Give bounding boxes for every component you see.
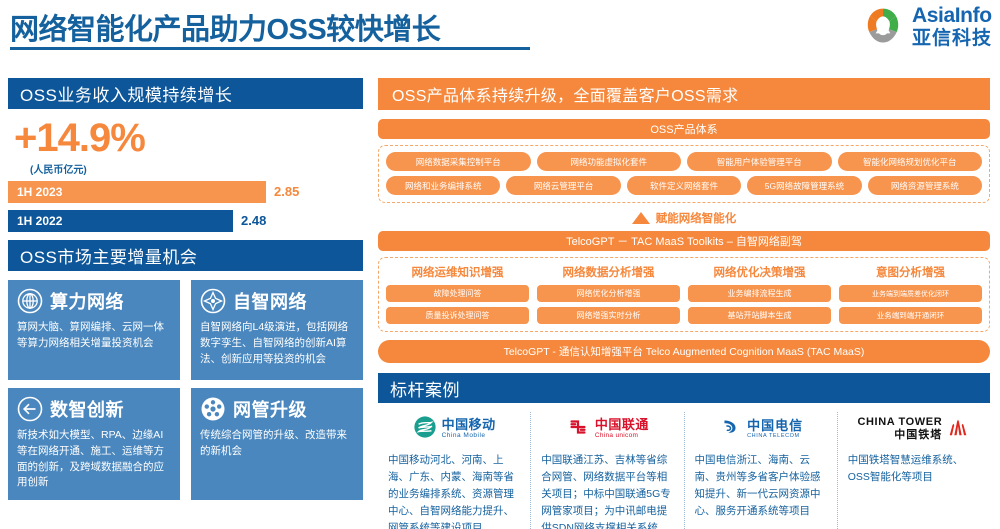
telcogpt-item[interactable]: 业务端到端开通闭环: [839, 307, 982, 324]
telcogpt-columns-container: 网络运维知识增强 故障处理问答 质量投诉处理问答 网络数据分析增强 网络优化分析…: [378, 257, 990, 332]
currency-unit-label: (人民币亿元): [30, 161, 363, 176]
bar-value-2023: 2.85: [274, 184, 299, 199]
product-pill[interactable]: 网络和业务编排系统: [386, 176, 500, 195]
case-logo: 中国电信 CHINA TELECOM: [695, 412, 827, 446]
case-logo-en: CHINA TELECOM: [747, 434, 803, 440]
opportunity-card-autonomous-network[interactable]: 自智网络 自智网络向L4级演进，包括网络数字孪生、自智网络的创新AI算法、创新应…: [191, 280, 363, 380]
telcogpt-column-title: 网络数据分析增强: [537, 264, 680, 280]
case-logo-text: 中国电信 CHINA TELECOM: [747, 419, 803, 440]
header: 网络智能化产品助力OSS较快增长 AsiaInfo 亚信科技: [0, 0, 1000, 62]
brand-logo: AsiaInfo 亚信科技: [861, 4, 992, 48]
opportunity-card-title: 数智创新: [50, 396, 124, 422]
product-group-title: OSS产品体系: [378, 119, 990, 139]
card-title-row: 自智网络: [200, 288, 354, 314]
telcogpt-column-title: 网络优化决策增强: [688, 264, 831, 280]
telcogpt-column-data-analysis: 网络数据分析增强 网络优化分析增强 网络增强实时分析: [537, 264, 680, 324]
china-tower-logo-icon: [946, 415, 970, 444]
title-underline: [10, 47, 530, 50]
card-title-row: 网管升级: [200, 396, 354, 422]
case-section-heading: 标杆案例: [378, 373, 990, 403]
enable-network-intelligence-label: 赋能网络智能化: [378, 210, 990, 226]
slide-root: 网络智能化产品助力OSS较快增长 AsiaInfo 亚信科技 OSS业务收入规模…: [0, 0, 1000, 529]
bar-row-2022: 1H 2022 2.48: [8, 210, 363, 232]
product-pill[interactable]: 网络云管理平台: [506, 176, 620, 195]
product-pill[interactable]: 软件定义网络套件: [627, 176, 741, 195]
telcogpt-column-title: 意图分析增强: [839, 264, 982, 280]
opportunity-card-computing-network[interactable]: 算力网络 算网大脑、算网编排、云网一体等算力网络相关增量投资机会: [8, 280, 180, 380]
opportunity-card-body: 传统综合网管的升级、改造带来的新机会: [200, 428, 354, 460]
product-pill-row-2: 网络和业务编排系统 网络云管理平台 软件定义网络套件 5G网络故障管理系统 网络…: [386, 176, 982, 195]
telcogpt-group-title: TelcoGPT － TAC MaaS Toolkits – 自智网络副驾: [378, 231, 990, 251]
telcogpt-item[interactable]: 网络增强实时分析: [537, 307, 680, 324]
product-pill[interactable]: 智能用户体验管理平台: [687, 152, 832, 171]
telcogpt-item[interactable]: 业务端到端质差优化闭环: [839, 285, 982, 302]
case-grid: 中国移动 China Mobile 中国移动河北、河南、上海、广东、内蒙、海南等…: [378, 412, 990, 529]
product-system-group: OSS产品体系 网络数据采集控制平台 网络功能虚拟化套件 智能用户体验管理平台 …: [378, 119, 990, 203]
case-logo-cn: 中国电信: [747, 419, 803, 432]
case-card-china-tower[interactable]: CHINA TOWER 中国铁塔 中国铁塔智慧运维系统、OSS智能化等项目: [837, 412, 990, 529]
telcogpt-item[interactable]: 业务编排流程生成: [688, 285, 831, 302]
opportunity-section-heading: OSS市场主要增量机会: [8, 240, 363, 271]
opportunity-card-body: 新技术如大模型、RPA、边缘AI等在网络开通、施工、运维等方面的创新，及跨域数据…: [17, 428, 171, 491]
case-logo-text: CHINA TOWER 中国铁塔: [857, 417, 942, 441]
case-logo: 中国移动 China Mobile: [388, 412, 520, 446]
page-title: 网络智能化产品助力OSS较快增长: [10, 6, 440, 48]
case-logo-en: China Mobile: [442, 433, 496, 440]
product-pill[interactable]: 网络数据采集控制平台: [386, 152, 531, 171]
telcogpt-column-ops-knowledge: 网络运维知识增强 故障处理问答 质量投诉处理问答: [386, 264, 529, 324]
revenue-section-heading: OSS业务收入规模持续增长: [8, 78, 363, 109]
telcogpt-columns: 网络运维知识增强 故障处理问答 质量投诉处理问答 网络数据分析增强 网络优化分析…: [386, 264, 982, 324]
product-pill[interactable]: 5G网络故障管理系统: [747, 176, 861, 195]
case-card-china-unicom[interactable]: 中国联通 China unicom 中国联通江苏、吉林等省综合网管、网络数据平台…: [530, 412, 683, 529]
case-logo-en: CHINA TOWER: [857, 417, 942, 428]
network-nodes-icon: [200, 396, 226, 422]
telcogpt-column-optimization-decision: 网络优化决策增强 业务编排流程生成 基站开站脚本生成: [688, 264, 831, 324]
product-pill[interactable]: 网络资源管理系统: [868, 176, 982, 195]
case-logo-cn: 中国联通: [595, 418, 649, 431]
china-unicom-logo-icon: [566, 415, 590, 444]
card-title-row: 算力网络: [17, 288, 171, 314]
arrow-left-circle-icon: [17, 396, 43, 422]
product-pill[interactable]: 网络功能虚拟化套件: [537, 152, 682, 171]
opportunity-card-grid: 算力网络 算网大脑、算网编排、云网一体等算力网络相关增量投资机会 自智网络 自: [8, 280, 363, 500]
logo-text-en: AsiaInfo: [912, 5, 992, 26]
case-logo-cn: 中国移动: [442, 418, 496, 431]
case-logo-text: 中国移动 China Mobile: [442, 418, 496, 440]
case-logo-text: 中国联通 China unicom: [595, 418, 649, 440]
case-card-china-telecom[interactable]: 中国电信 CHINA TELECOM 中国电信浙江、海南、云南、贵州等多省客户体…: [684, 412, 837, 529]
logo-text: AsiaInfo 亚信科技: [912, 5, 992, 48]
case-body: 中国铁塔智慧运维系统、OSS智能化等项目: [848, 452, 980, 486]
bar-row-2023: 1H 2023 2.85: [8, 181, 363, 203]
opportunity-card-body: 算网大脑、算网编排、云网一体等算力网络相关增量投资机会: [17, 320, 171, 352]
case-body: 中国电信浙江、海南、云南、贵州等多省客户体验感知提升、新一代云网资源中心、服务开…: [695, 452, 827, 520]
case-body: 中国移动河北、河南、上海、广东、内蒙、海南等省的业务编排系统、资源管理中心、自智…: [388, 452, 520, 529]
product-pill-row-1: 网络数据采集控制平台 网络功能虚拟化套件 智能用户体验管理平台 智能化网络规划优…: [386, 152, 982, 171]
product-pill[interactable]: 智能化网络规划优化平台: [838, 152, 983, 171]
logo-text-cn: 亚信科技: [912, 29, 992, 48]
telcogpt-item[interactable]: 基站开站脚本生成: [688, 307, 831, 324]
right-column: OSS产品体系持续升级，全面覆盖客户OSS需求 OSS产品体系 网络数据采集控制…: [378, 78, 990, 529]
asiainfo-logo-icon: [861, 4, 905, 48]
compass-icon: [200, 288, 226, 314]
opportunity-card-title: 网管升级: [233, 396, 307, 422]
telcogpt-column-title: 网络运维知识增强: [386, 264, 529, 280]
card-title-row: 数智创新: [17, 396, 171, 422]
growth-percentage: +14.9%: [14, 117, 363, 159]
case-body: 中国联通江苏、吉林等省综合网管、网络数据平台等相关项目；中标中国联通5G专网管家…: [541, 452, 673, 529]
opportunity-card-nms-upgrade[interactable]: 网管升级 传统综合网管的升级、改造带来的新机会: [191, 388, 363, 500]
product-section-heading: OSS产品体系持续升级，全面覆盖客户OSS需求: [378, 78, 990, 110]
case-logo: CHINA TOWER 中国铁塔: [848, 412, 980, 446]
enable-label-text: 赋能网络智能化: [656, 210, 737, 226]
telcogpt-item[interactable]: 质量投诉处理问答: [386, 307, 529, 324]
opportunity-card-digital-innovation[interactable]: 数智创新 新技术如大模型、RPA、边缘AI等在网络开通、施工、运维等方面的创新，…: [8, 388, 180, 500]
opportunity-card-title: 自智网络: [233, 288, 307, 314]
case-logo: 中国联通 China unicom: [541, 412, 673, 446]
china-telecom-logo-icon: [718, 415, 742, 444]
bar-value-2022: 2.48: [241, 213, 266, 228]
globe-icon: [17, 288, 43, 314]
opportunity-card-body: 自智网络向L4级演进，包括网络数字孪生、自智网络的创新AI算法、创新应用等投资的…: [200, 320, 354, 367]
telcogpt-column-intent-analysis: 意图分析增强 业务端到端质差优化闭环 业务端到端开通闭环: [839, 264, 982, 324]
case-logo-en: China unicom: [595, 433, 649, 440]
opportunity-card-title: 算力网络: [50, 288, 124, 314]
case-card-china-mobile[interactable]: 中国移动 China Mobile 中国移动河北、河南、上海、广东、内蒙、海南等…: [378, 412, 530, 529]
tac-maas-platform-bar[interactable]: TelcoGPT - 通信认知增强平台 Telco Augmented Cogn…: [378, 340, 990, 363]
case-logo-cn: 中国铁塔: [894, 430, 942, 441]
telcogpt-group: TelcoGPT － TAC MaaS Toolkits – 自智网络副驾 网络…: [378, 231, 990, 332]
left-column: OSS业务收入规模持续增长 +14.9% (人民币亿元) 1H 2023 2.8…: [8, 78, 363, 500]
telcogpt-item[interactable]: 网络优化分析增强: [537, 285, 680, 302]
product-pill-container: 网络数据采集控制平台 网络功能虚拟化套件 智能用户体验管理平台 智能化网络规划优…: [378, 145, 990, 203]
china-mobile-logo-icon: [413, 415, 437, 444]
bar-label-2023: 1H 2023: [8, 181, 266, 203]
bar-label-2022: 1H 2022: [8, 210, 233, 232]
triangle-up-icon: [632, 212, 650, 224]
telcogpt-item[interactable]: 故障处理问答: [386, 285, 529, 302]
